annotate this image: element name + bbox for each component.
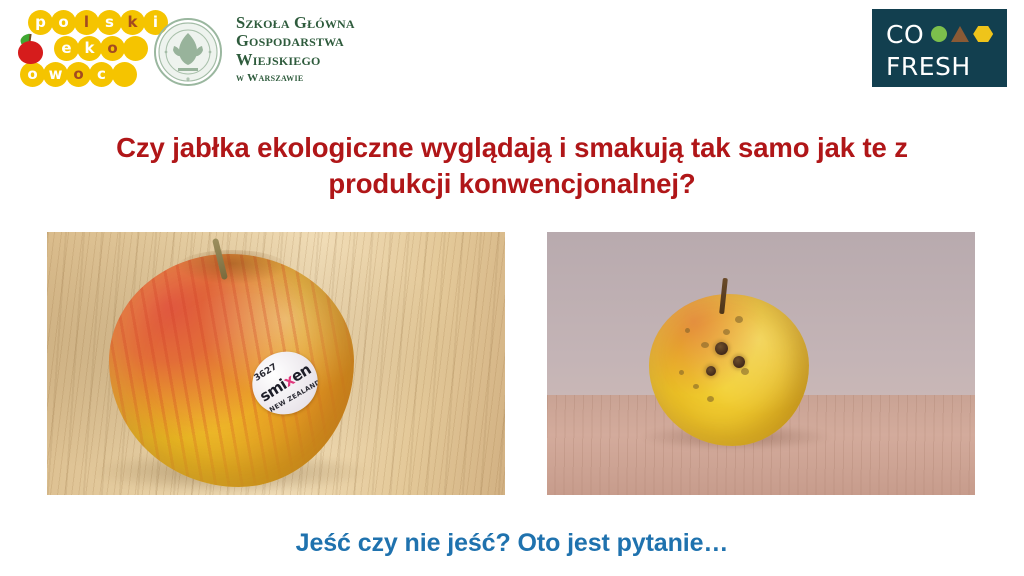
apple-blemish: [735, 316, 743, 323]
apple-scab-spot: [706, 366, 716, 376]
apple-scab-spot: [733, 356, 745, 368]
circle-icon: [931, 26, 947, 42]
logo-polski-eko-owoc: p o l s k i e k o o w o c: [10, 8, 128, 88]
apple-body: [649, 294, 809, 446]
logo-letter-dot-blank: [112, 62, 137, 87]
cofresh-inner: CO FRESH: [886, 21, 997, 77]
logo-sggw: Szkoła Główna Gospodarstwa Wiejskiego w …: [152, 14, 387, 92]
cofresh-top-row: CO: [886, 21, 997, 47]
logo-row-polski: p o l s k i: [28, 10, 166, 35]
hexagon-icon: [973, 26, 993, 42]
logo-letter-dot: o: [20, 62, 45, 87]
sggw-wordmark: Szkoła Główna Gospodarstwa Wiejskiego w …: [236, 14, 355, 85]
cofresh-word-co: CO: [886, 22, 924, 47]
slide-canvas: p o l s k i e k o o w o c: [0, 0, 1024, 576]
apple-scab-spot: [715, 342, 728, 355]
logo-letter-dot: p: [28, 10, 53, 35]
slide-title: Czy jabłka ekologiczne wyglądają i smaku…: [58, 130, 966, 203]
logo-cofresh: CO FRESH: [872, 9, 1007, 87]
logo-letter-dot: o: [66, 62, 91, 87]
sggw-line-3: Wiejskiego: [236, 51, 355, 69]
photo-conventional-apple: 3627 smixen NEW ZEALAND: [47, 232, 505, 495]
apple-icon: [16, 34, 46, 64]
sggw-line-4: w Warszawie: [236, 72, 355, 84]
cofresh-shapes: [931, 26, 993, 42]
apple-blemish: [685, 328, 690, 333]
logo-letter-dot: w: [43, 62, 68, 87]
apple-stem-well: [177, 250, 287, 284]
triangle-icon: [951, 26, 969, 42]
apple-blemish: [693, 384, 699, 389]
logo-row-eko: e k o: [54, 36, 146, 61]
apple-blemish: [701, 342, 709, 348]
logo-letter-dot: k: [77, 36, 102, 61]
sggw-emblem-icon: [152, 16, 224, 88]
logo-letter-dot: c: [89, 62, 114, 87]
photo-organic-apple: [547, 232, 975, 495]
logo-letter-dot: o: [51, 10, 76, 35]
logo-letter-dot: s: [97, 10, 122, 35]
apple-conventional: 3627 smixen NEW ZEALAND: [109, 242, 354, 487]
apple-red-striping: [109, 254, 354, 487]
logo-letter-dot: e: [54, 36, 79, 61]
logo-row-owoc: o w o c: [20, 62, 135, 87]
sggw-line-2: Gospodarstwa: [236, 32, 355, 50]
apple-organic: [649, 284, 809, 449]
logo-letter-dot: o: [100, 36, 125, 61]
apple-blemish: [679, 370, 684, 375]
logo-letter-dot-blank: [123, 36, 148, 61]
logo-letter-dot: l: [74, 10, 99, 35]
cofresh-word-fresh: FRESH: [886, 54, 997, 79]
apple-blemish: [723, 329, 730, 335]
apple-blemish: [741, 368, 749, 375]
apple-body-shape: [18, 41, 43, 64]
apple-blemish: [707, 396, 714, 402]
logo-letter-dot: k: [120, 10, 145, 35]
sggw-line-1: Szkoła Główna: [236, 14, 355, 32]
slide-caption: Jeść czy nie jeść? Oto jest pytanie…: [0, 529, 1024, 558]
